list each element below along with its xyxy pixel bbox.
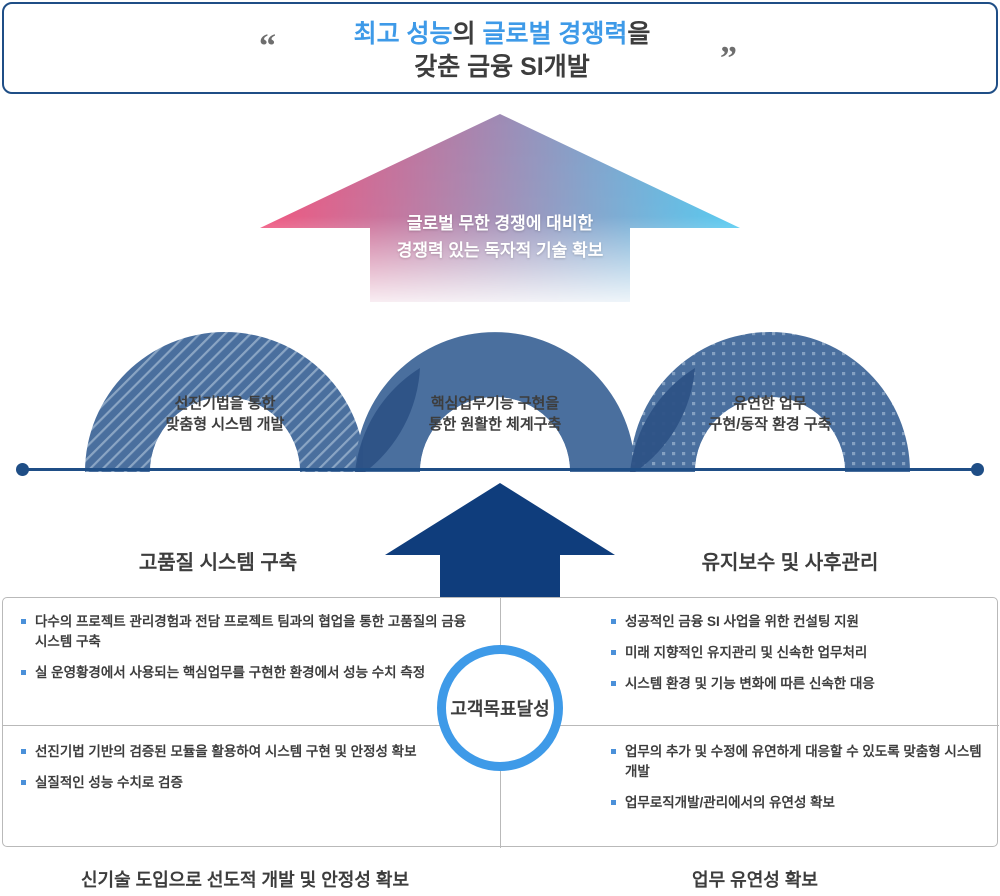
arch-1-label: 선진기법을 통한 맞춤형 시스템 개발	[115, 393, 335, 435]
arch-1-label-line-2: 맞춤형 시스템 개발	[115, 414, 335, 435]
baseline-dot-left	[16, 463, 29, 476]
bullet-list-top-right: 성공적인 금융 SI 사업을 위한 컨설팅 지원 미래 지향적인 유지관리 및 …	[611, 612, 991, 694]
list-item: 시스템 환경 및 기능 변화에 따른 신속한 대응	[611, 674, 991, 694]
arch-2-label-line-2: 통한 원활한 체계구축	[385, 414, 605, 435]
mid-label-right: 유지보수 및 사후관리	[600, 546, 980, 575]
list-item: 실 운영황경에서 사용되는 핵심업무를 구현한 환경에서 성능 수치 측정	[21, 663, 471, 683]
title-plain-1: 의	[453, 20, 483, 48]
solid-arrow-shape	[385, 483, 615, 601]
bullet-list-bottom-left: 선진기법 기반의 검증된 모듈을 활용하여 시스템 구현 및 안정성 확보 실질…	[21, 742, 471, 793]
list-item: 성공적인 금융 SI 사업을 위한 컨설팅 지원	[611, 612, 991, 632]
arch-1-label-line-1: 선진기법을 통한	[115, 393, 335, 414]
goal-circle-label: 고객목표달성	[450, 695, 549, 721]
chevron-caption: 글로벌 무한 경쟁에 대비한 경쟁력 있는 독자적 기술 확보	[258, 210, 742, 264]
bottom-label-right: 업무 유연성 확보	[510, 866, 1000, 892]
list-item: 업무로직개발/관리에서의 유연성 확보	[611, 793, 991, 813]
goal-circle: 고객목표달성	[437, 645, 563, 771]
table-cell-top-right: 성공적인 금융 SI 사업을 위한 컨설팅 지원 미래 지향적인 유지관리 및 …	[611, 612, 991, 705]
gradient-arrow-shape	[258, 112, 742, 302]
list-item: 업무의 추가 및 수정에 유연하게 대응할 수 있도록 맞춤형 시스템 개발	[611, 742, 991, 782]
gradient-up-arrow: 글로벌 무한 경쟁에 대비한 경쟁력 있는 독자적 기술 확보	[258, 112, 742, 302]
bullet-list-bottom-right: 업무의 추가 및 수정에 유연하게 대응할 수 있도록 맞춤형 시스템 개발 업…	[611, 742, 991, 813]
table-cell-bottom-left: 선진기법 기반의 검증된 모듈을 활용하여 시스템 구현 및 안정성 확보 실질…	[21, 742, 471, 804]
title-line-1: 최고 성능의 글로벌 경쟁력을	[4, 18, 1000, 51]
arch-3-label-line-1: 유연한 업무	[660, 393, 880, 414]
arch-group: 선진기법을 통한 맞춤형 시스템 개발 핵심업무기능 구현을 통한 원활한 체계…	[0, 290, 1000, 472]
arch-3-label-line-2: 구현/동작 환경 구축	[660, 414, 880, 435]
solid-up-arrow	[385, 483, 615, 601]
arch-2-label: 핵심업무기능 구현을 통한 원활한 체계구축	[385, 393, 605, 435]
baseline-dot-right	[971, 463, 984, 476]
chevron-caption-line-1: 글로벌 무한 경쟁에 대비한	[258, 210, 742, 237]
title-highlight-2: 글로벌 경쟁력	[482, 20, 627, 48]
arch-2-label-line-1: 핵심업무기능 구현을	[385, 393, 605, 414]
arches-svg	[0, 290, 1000, 472]
diagram-root: “ ” 최고 성능의 글로벌 경쟁력을 갖춘 금융 SI개발	[0, 0, 1000, 896]
table-cell-bottom-right: 업무의 추가 및 수정에 유연하게 대응할 수 있도록 맞춤형 시스템 개발 업…	[611, 742, 991, 824]
arch-3-label: 유연한 업무 구현/동작 환경 구축	[660, 393, 880, 435]
title-line-2: 갖춘 금융 SI개발	[4, 51, 1000, 84]
list-item: 미래 지향적인 유지관리 및 신속한 업무처리	[611, 643, 991, 663]
title-plain-2: 을	[627, 20, 650, 48]
mid-label-left: 고품질 시스템 구축	[28, 546, 408, 575]
baseline-rule	[22, 468, 978, 471]
bottom-label-left: 신기술 도입으로 선도적 개발 및 안정성 확보	[0, 866, 490, 892]
table-cell-top-left: 다수의 프로젝트 관리경험과 전담 프로젝트 팀과의 협업을 통한 고품질의 금…	[21, 612, 471, 694]
chevron-caption-line-2: 경쟁력 있는 독자적 기술 확보	[258, 237, 742, 264]
list-item: 다수의 프로젝트 관리경험과 전담 프로젝트 팀과의 협업을 통한 고품질의 금…	[21, 612, 471, 652]
bullet-list-top-left: 다수의 프로젝트 관리경험과 전담 프로젝트 팀과의 협업을 통한 고품질의 금…	[21, 612, 471, 683]
page-title: 최고 성능의 글로벌 경쟁력을 갖춘 금융 SI개발	[4, 18, 1000, 84]
title-highlight-1: 최고 성능	[354, 20, 453, 48]
list-item: 선진기법 기반의 검증된 모듈을 활용하여 시스템 구현 및 안정성 확보	[21, 742, 471, 762]
title-banner: “ ” 최고 성능의 글로벌 경쟁력을 갖춘 금융 SI개발	[2, 2, 998, 94]
list-item: 실질적인 성능 수치로 검증	[21, 773, 471, 793]
